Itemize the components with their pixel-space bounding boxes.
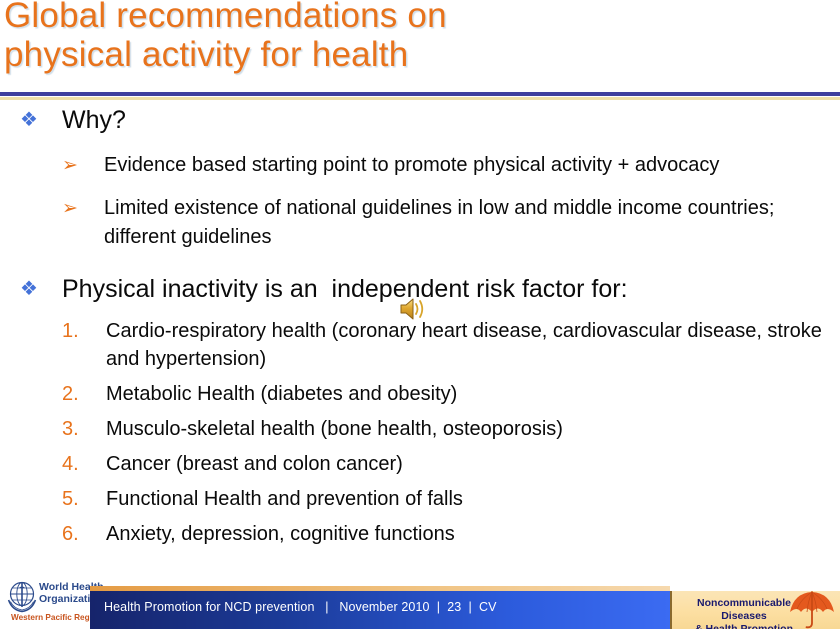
list-item-label: Musculo-skeletal health (bone health, os… — [106, 415, 834, 443]
slide-body: ❖ Why? ➢ Evidence based starting point t… — [0, 103, 840, 555]
list-number: 2. — [62, 380, 106, 408]
list-item-label: Functional Health and prevention of fall… — [106, 485, 834, 513]
divider-line-gold — [0, 97, 840, 100]
arrow-bullet-icon: ➢ — [62, 194, 104, 223]
arrow-bullet-icon: ➢ — [62, 151, 104, 180]
list-item: 4. Cancer (breast and colon cancer) — [0, 450, 840, 478]
slide-footer: World Health Organization Western Pacifi… — [0, 575, 840, 629]
list-number: 1. — [62, 317, 106, 345]
list-item: ➢ Evidence based starting point to promo… — [0, 151, 840, 180]
list-item: 2. Metabolic Health (diabetes and obesit… — [0, 380, 840, 408]
badge-left-border — [670, 591, 672, 629]
section-heading-label: Physical inactivity is an independent ri… — [62, 272, 832, 306]
umbrella-icon — [786, 591, 838, 629]
list-number: 6. — [62, 520, 106, 548]
list-item: 1. Cardio-respiratory health (coronary h… — [0, 317, 840, 373]
list-item-label: Cancer (breast and colon cancer) — [106, 450, 834, 478]
section-heading-why: ❖ Why? — [0, 103, 840, 137]
sound-speaker-icon[interactable] — [398, 296, 428, 322]
title-divider — [0, 92, 840, 100]
list-item: 6. Anxiety, depression, cognitive functi… — [0, 520, 840, 548]
list-item-label: Limited existence of national guidelines… — [104, 194, 832, 252]
list-item: ➢ Limited existence of national guidelin… — [0, 194, 840, 252]
list-item-label: Evidence based starting point to promote… — [104, 151, 832, 180]
diamond-bullet-icon: ❖ — [18, 272, 62, 306]
list-number: 5. — [62, 485, 106, 513]
list-number: 3. — [62, 415, 106, 443]
list-item-label: Cardio-respiratory health (coronary hear… — [106, 317, 834, 373]
footer-info-text: Health Promotion for NCD prevention | No… — [104, 600, 497, 614]
diamond-bullet-icon: ❖ — [18, 103, 62, 137]
list-item-label: Anxiety, depression, cognitive functions — [106, 520, 834, 548]
footer-info-bar: Health Promotion for NCD prevention | No… — [90, 591, 670, 629]
list-number: 4. — [62, 450, 106, 478]
page-title: Global recommendations on physical activ… — [4, 0, 824, 74]
who-logo: World Health Organization Western Pacifi… — [6, 579, 96, 625]
who-emblem-icon — [6, 580, 38, 614]
section-heading-label: Why? — [62, 103, 832, 137]
list-item: 3. Musculo-skeletal health (bone health,… — [0, 415, 840, 443]
list-item: 5. Functional Health and prevention of f… — [0, 485, 840, 513]
department-badge: Noncommunicable Diseases & Health Promot… — [670, 591, 840, 629]
list-item-label: Metabolic Health (diabetes and obesity) — [106, 380, 834, 408]
divider-line-blue — [0, 92, 840, 96]
